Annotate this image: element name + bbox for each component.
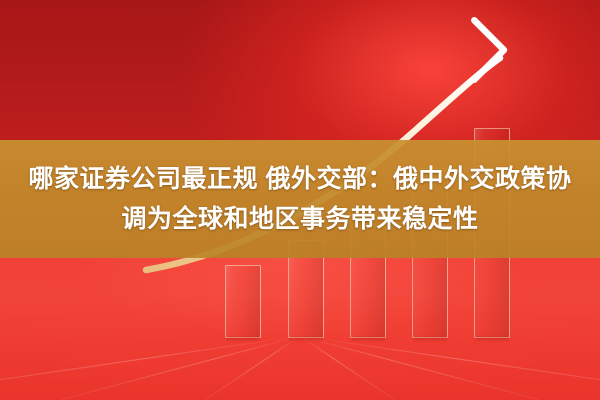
news-banner: 哪家证券公司最正规 俄外交部：俄中外交政策协 调为全球和地区事务带来稳定性 [0,0,600,400]
headline-block: 哪家证券公司最正规 俄外交部：俄中外交政策协 调为全球和地区事务带来稳定性 [0,140,600,258]
bar-1 [225,265,261,338]
headline-line-1: 哪家证券公司最正规 俄外交部：俄中外交政策协 [29,160,572,198]
headline-line-2: 调为全球和地区事务带来稳定性 [121,200,478,238]
